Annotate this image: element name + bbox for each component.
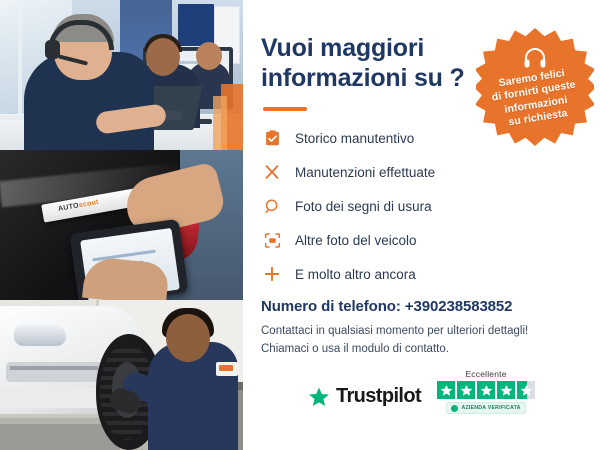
camera-frame-icon	[261, 229, 283, 251]
front-grille	[6, 362, 102, 382]
plus-icon	[261, 263, 283, 285]
background-person-3-head	[196, 42, 222, 70]
promo-banner: AUTOscout	[0, 0, 600, 450]
list-item: E molto altro ancora	[261, 263, 578, 285]
trustpilot-widget[interactable]: Trustpilot Eccellente AZIENDA VERIFICATA	[261, 369, 582, 415]
headset-icon	[522, 47, 548, 69]
list-item-label: Foto dei segni di usura	[295, 199, 432, 214]
feature-list: Storico manutentivo Manutenzioni effettu…	[261, 127, 578, 285]
list-item-label: E molto altro ancora	[295, 267, 416, 282]
list-item: Manutenzioni effettuate	[261, 161, 578, 183]
orange-equipment-2	[213, 96, 227, 150]
callout-badge: Saremo felici di fornirti queste informa…	[476, 28, 594, 146]
photo-column: AUTOscout	[0, 0, 243, 450]
contact-subtext: Contattaci in qualsiasi momento per ulte…	[261, 323, 578, 359]
trustpilot-star-icon	[308, 386, 330, 408]
trustpilot-wordmark: Trustpilot	[336, 385, 421, 408]
star-2	[457, 381, 475, 399]
contact-subtext-line-1: Contattaci in qualsiasi momento per ulte…	[261, 323, 578, 341]
magnifier-icon	[261, 195, 283, 217]
rating-label: Eccellente	[465, 369, 506, 379]
mechanic-head	[166, 314, 210, 362]
star-4	[497, 381, 515, 399]
phone-number[interactable]: +390238583852	[405, 298, 513, 315]
background-person-2-head	[146, 38, 180, 76]
wall-poster	[178, 4, 214, 46]
list-item-label: Altre foto del veicolo	[295, 233, 417, 248]
paint-gauge-photo: AUTOscout	[0, 150, 243, 300]
crossed-tools-icon	[261, 161, 283, 183]
list-item-label: Manutenzioni effettuate	[295, 165, 435, 180]
brand-mark: AUTOscout	[58, 199, 100, 213]
grille-slat	[10, 366, 98, 370]
phone-line: Numero di telefono: +390238583852	[261, 298, 578, 315]
content-panel: Vuoi maggiori informazioni su ? Saremo f…	[243, 0, 600, 450]
trustpilot-logo: Trustpilot	[308, 385, 421, 414]
verified-label: AZIENDA VERIFICATA	[461, 405, 520, 411]
list-item: Altre foto del veicolo	[261, 229, 578, 251]
headlight	[14, 324, 66, 346]
star-5-partial	[517, 381, 535, 399]
trustpilot-rating: Eccellente AZIENDA VERIFICATA	[437, 369, 535, 415]
star-rating	[437, 381, 535, 399]
verified-check-icon	[451, 405, 458, 412]
uniform-logo	[216, 362, 238, 376]
title-underline	[263, 107, 307, 111]
verified-company-badge: AZIENDA VERIFICATA	[446, 402, 525, 414]
star-3	[477, 381, 495, 399]
tire-inspection-photo	[0, 300, 243, 450]
call-center-photo	[0, 0, 243, 150]
clipboard-check-icon	[261, 127, 283, 149]
list-item-label: Storico manutentivo	[295, 131, 414, 146]
star-1	[437, 381, 455, 399]
contact-subtext-line-2: Chiamaci o usa il modulo di contatto.	[261, 341, 578, 359]
phone-label: Numero di telefono:	[261, 298, 401, 315]
list-item: Foto dei segni di usura	[261, 195, 578, 217]
